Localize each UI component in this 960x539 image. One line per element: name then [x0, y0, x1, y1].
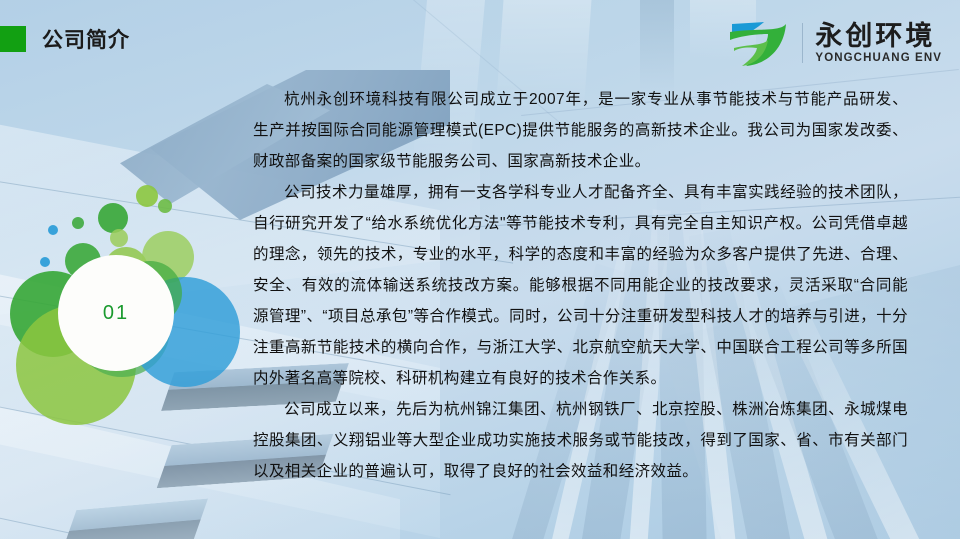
slide-title-bar: 公司简介 — [0, 24, 130, 54]
decoration-circle — [98, 203, 128, 233]
body-paragraph: 公司成立以来，先后为杭州锦江集团、杭州钢铁厂、北京控股、株洲冶炼集团、永城煤电控… — [253, 394, 908, 487]
decoration-circle — [40, 257, 50, 267]
logo-divider — [802, 23, 803, 63]
page-title: 公司简介 — [42, 24, 130, 54]
body-copy: 杭州永创环境科技有限公司成立于2007年，是一家专业从事节能技术与节能产品研发、… — [253, 84, 908, 487]
decoration-circle — [158, 199, 172, 213]
logo-chinese-name: 永创环境 — [815, 22, 942, 50]
logo-english-name: YONGCHUANG ENV — [815, 52, 942, 64]
body-paragraph: 公司技术力量雄厚，拥有一支各学科专业人才配备齐全、具有丰富实践经验的技术团队，自… — [253, 177, 908, 394]
section-number-badge: 01 — [58, 255, 174, 371]
decoration-circle — [110, 229, 128, 247]
bg-glass-column-3 — [640, 0, 674, 95]
decoration-circle — [136, 185, 158, 207]
slide-root: 01 公司简介 永创环境 YONGCHUANG ENV 杭州永创环境科技有限公司… — [0, 0, 960, 539]
company-logo: 永创环境 YONGCHUANG ENV — [728, 18, 942, 68]
section-number-decoration: 01 — [10, 185, 260, 435]
section-number-text: 01 — [103, 302, 129, 325]
body-paragraph: 杭州永创环境科技有限公司成立于2007年，是一家专业从事节能技术与节能产品研发、… — [253, 84, 908, 177]
title-square-marker — [0, 26, 26, 52]
logo-wordmark: 永创环境 YONGCHUANG ENV — [815, 22, 942, 63]
decoration-circle — [72, 217, 84, 229]
decoration-circle — [48, 225, 58, 235]
leaf-swoosh-icon — [728, 18, 790, 68]
